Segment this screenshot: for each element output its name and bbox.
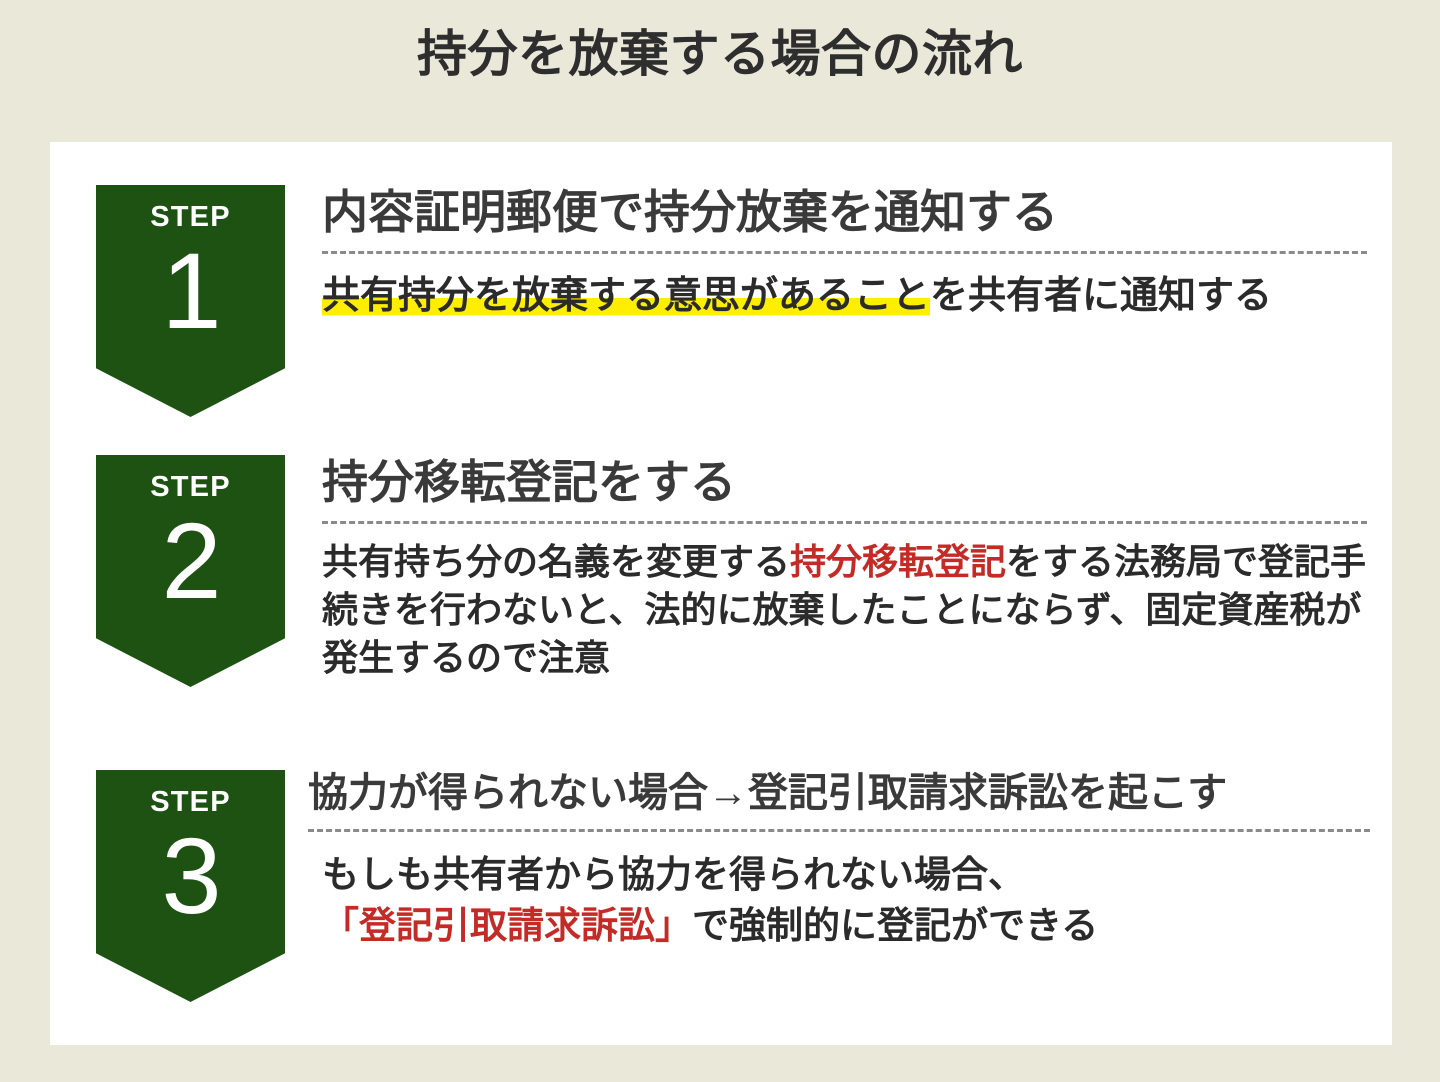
step-badge-number: 2 [96,504,285,617]
step-description: 共有持分を放棄する意思があることを共有者に通知する [322,270,1372,323]
step-body: 持分移転登記をする 共有持ち分の名義を変更する持分移転登記をする法務局で登記手続… [322,455,1372,682]
step-description-text: もしも共有者から協力を得られない場合、 [322,854,1025,895]
step-badge-label: STEP [96,203,285,232]
step-badge-number: 3 [96,819,285,932]
step-badge-label: STEP [96,473,285,502]
step-badge-label: STEP [96,788,285,817]
step-divider [322,521,1367,524]
step-badge-1: STEP 1 [96,185,285,417]
step-body: 協力が得られない場合→登記引取請求訴訟を起こす もしも共有者から協力を得られない… [308,770,1358,951]
step-divider [322,251,1367,254]
highlighted-text: 共有持分を放棄する意思があること [322,275,930,317]
steps-list: STEP 1 内容証明郵便で持分放棄を通知する 共有持分を放棄する意思があること… [50,142,1392,1045]
step-body: 内容証明郵便で持分放棄を通知する 共有持分を放棄する意思があることを共有者に通知… [322,185,1372,323]
step-heading: 持分移転登記をする [322,455,1372,515]
step-description-text: で強制的に登記ができる [692,905,1098,946]
step-heading: 内容証明郵便で持分放棄を通知する [322,185,1372,245]
step-badge-3: STEP 3 [96,770,285,1002]
step-badge-number: 1 [96,234,285,347]
step-description: 共有持ち分の名義を変更する持分移転登記をする法務局で登記手続きを行わないと、法的… [322,538,1372,682]
step-description-text: を共有者に通知する [930,275,1272,317]
step-description-text: 共有持ち分の名義を変更する [322,541,790,582]
step-badge-2: STEP 2 [96,455,285,687]
page-title: 持分を放棄する場合の流れ [0,26,1440,84]
emphasis-text: 「登記引取請求訴訟」 [322,905,692,946]
steps-card: STEP 1 内容証明郵便で持分放棄を通知する 共有持分を放棄する意思があること… [50,142,1392,1045]
step-description: もしも共有者から協力を得られない場合、「登記引取請求訴訟」で強制的に登記ができる [322,850,1358,951]
step-divider [308,829,1370,832]
step-heading: 協力が得られない場合→登記引取請求訴訟を起こす [308,770,1358,823]
emphasis-text: 持分移転登記 [790,541,1006,582]
